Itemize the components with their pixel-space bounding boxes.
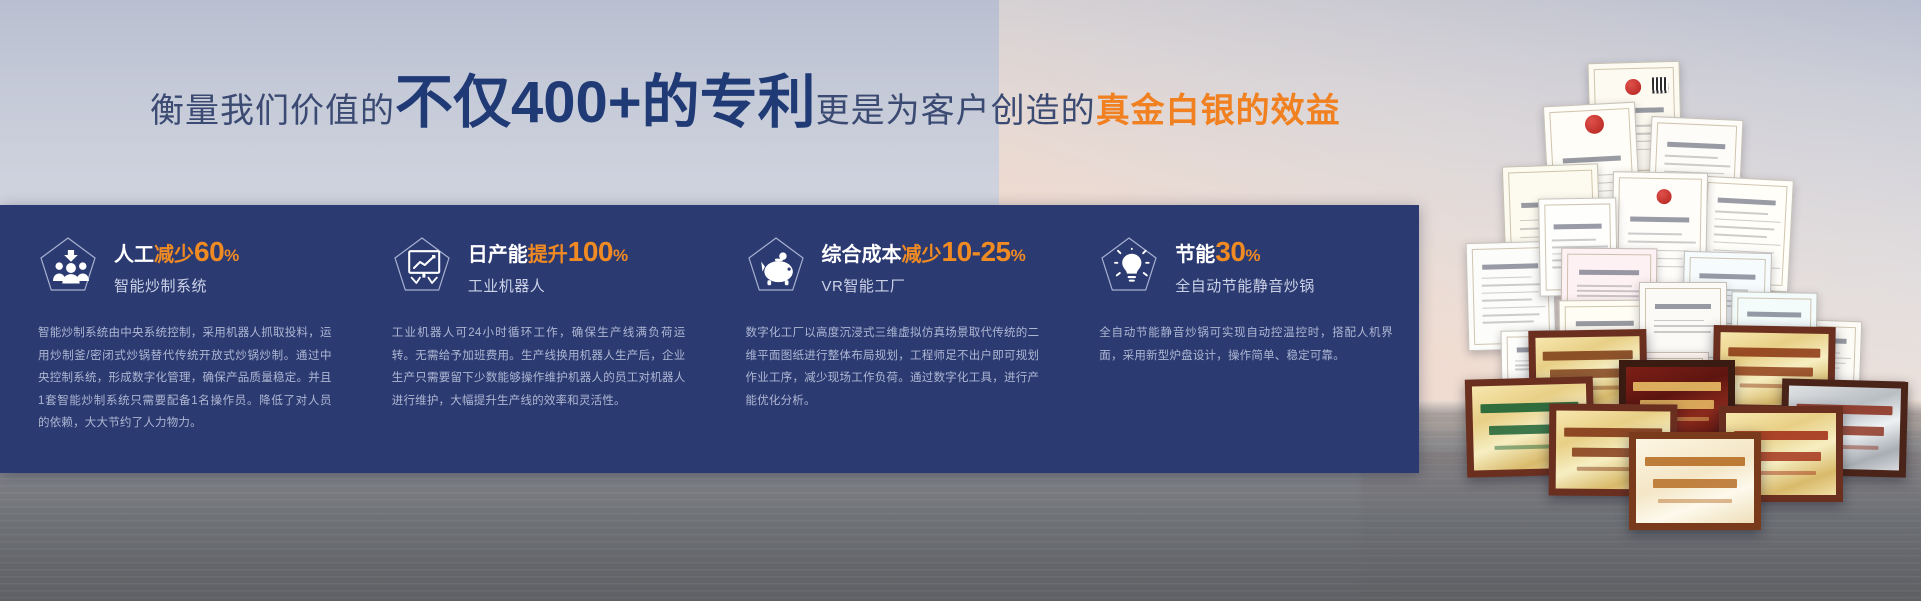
feature-title-unit: %: [224, 246, 239, 265]
feature-title-accent: 提升: [528, 244, 568, 266]
feature-title-number: 100: [568, 236, 613, 267]
feature-subtitle: VR智能工厂: [822, 275, 1026, 296]
feature-header: 节能30%全自动节能静音炒锅: [1099, 233, 1393, 296]
lightbulb-icon: [1099, 235, 1159, 293]
feature-title-prefix: 日产能: [468, 244, 528, 266]
feature-panel: 人工减少60%智能炒制系统智能炒制系统由中央系统控制，采用机器人抓取投料，运用炒…: [0, 205, 1419, 473]
feature-header: 日产能提升100%工业机器人: [392, 233, 686, 296]
feature-body-text: 智能炒制系统由中央系统控制，采用机器人抓取投料，运用炒制釜/密闭式炒锅替代传统开…: [38, 322, 332, 434]
feature-title-accent: 减少: [154, 244, 194, 266]
plaque-hightech-front: [1629, 432, 1761, 530]
feature-header: 人工减少60%智能炒制系统: [38, 233, 332, 296]
feature-subtitle: 工业机器人: [468, 275, 628, 296]
feature-title-unit: %: [613, 246, 628, 265]
feature-titles: 人工减少60%智能炒制系统: [114, 233, 239, 296]
feature-block-2: 日产能提升100%工业机器人工业机器人可24小时循环工作，确保生产线满负荷运转。…: [358, 233, 712, 473]
feature-title-unit: %: [1245, 246, 1260, 265]
headline-lead: 衡量我们价值的: [150, 83, 395, 132]
people-group-icon: [38, 235, 98, 293]
feature-block-1: 人工减少60%智能炒制系统智能炒制系统由中央系统控制，采用机器人抓取投料，运用炒…: [0, 233, 358, 473]
feature-title: 日产能提升100%: [468, 237, 628, 266]
feature-title-prefix: 节能: [1175, 244, 1215, 266]
feature-body-text: 全自动节能静音炒锅可实现自动控温控时，搭配人机界面，采用新型炉盘设计，操作简单、…: [1099, 322, 1393, 367]
feature-titles: 综合成本减少10-25%VR智能工厂: [822, 233, 1026, 296]
feature-titles: 节能30%全自动节能静音炒锅: [1175, 233, 1315, 296]
page-headline: 衡量我们价值的 不仅400+的专利 更是为客户创造的 真金白银的效益: [150, 74, 1341, 136]
feature-title-prefix: 综合成本: [822, 244, 902, 266]
feature-columns: 人工减少60%智能炒制系统智能炒制系统由中央系统控制，采用机器人抓取投料，运用炒…: [0, 205, 1419, 473]
feature-body-text: 工业机器人可24小时循环工作，确保生产线满负荷运转。无需给予加班费用。生产线换用…: [392, 322, 686, 412]
feature-title: 人工减少60%: [114, 237, 239, 266]
feature-title-number: 30: [1215, 236, 1245, 267]
piggy-bank-icon: [746, 235, 806, 293]
headline-middle: 更是为客户创造的: [816, 83, 1096, 132]
feature-block-4: 节能30%全自动节能静音炒锅全自动节能静音炒锅可实现自动控温控时，搭配人机界面，…: [1065, 233, 1419, 473]
feature-title-unit: %: [1011, 246, 1026, 265]
feature-subtitle: 全自动节能静音炒锅: [1175, 275, 1315, 296]
feature-title-accent: 减少: [902, 244, 942, 266]
certificate-stack: [1361, 0, 1921, 601]
feature-block-3: 综合成本减少10-25%VR智能工厂数字化工厂以高度沉浸式三维虚拟仿真场景取代传…: [712, 233, 1066, 473]
feature-header: 综合成本减少10-25%VR智能工厂: [746, 233, 1040, 296]
feature-title-number: 60: [194, 236, 224, 267]
feature-titles: 日产能提升100%工业机器人: [468, 233, 628, 296]
feature-subtitle: 智能炒制系统: [114, 275, 239, 296]
chart-board-icon: [392, 235, 452, 293]
feature-title: 节能30%: [1175, 237, 1315, 266]
feature-title-number: 10-25: [942, 236, 1011, 267]
headline-emphasis: 不仅400+的专利: [395, 74, 816, 132]
feature-body-text: 数字化工厂以高度沉浸式三维虚拟仿真场景取代传统的二维平面图纸进行整体布局规划，工…: [746, 322, 1040, 412]
headline-highlight: 真金白银的效益: [1096, 83, 1341, 132]
feature-title: 综合成本减少10-25%: [822, 237, 1026, 266]
feature-title-prefix: 人工: [114, 244, 154, 266]
